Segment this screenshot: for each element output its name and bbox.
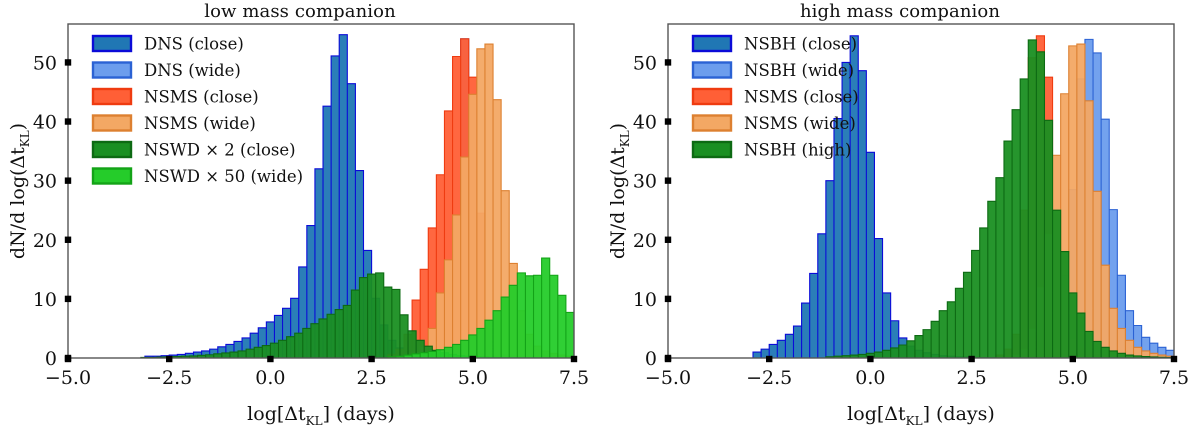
legend-label: NSBH (high) [744, 141, 851, 160]
legend-label: NSMS (wide) [144, 114, 256, 133]
x-tick-label: 7.5 [1159, 367, 1189, 389]
y-tick [65, 237, 71, 243]
x-tick [1171, 356, 1177, 362]
x-tick-label: −5.0 [645, 367, 691, 389]
y-tick [65, 296, 71, 302]
legend-label: DNS (wide) [144, 61, 241, 80]
legend-swatch [93, 63, 131, 78]
legend-label: NSMS (close) [144, 88, 259, 107]
x-tick-label: 2.5 [356, 367, 386, 389]
legend-item[interactable]: NSBH (close) [693, 35, 857, 54]
y-axis-label: dN/d log(ΔtKL) [607, 123, 632, 259]
plot-left: −5.0−2.50.02.55.07.501020304050log[ΔtKL]… [0, 0, 600, 427]
y-tick [65, 118, 71, 124]
legend-swatch [93, 169, 131, 184]
x-tick [368, 356, 374, 362]
legend-item[interactable]: NSMS (wide) [693, 114, 856, 133]
legend-swatch [93, 142, 131, 157]
y-tick [665, 59, 671, 65]
x-tick [1070, 356, 1076, 362]
histogram-layer [753, 36, 1200, 358]
legend-item[interactable]: NSWD × 2 (close) [93, 141, 296, 160]
x-axis-label: log[ΔtKL] (days) [247, 403, 395, 427]
legend-label: NSMS (wide) [744, 114, 856, 133]
x-tick [968, 356, 974, 362]
x-tick [267, 356, 273, 362]
legend-label: NSMS (close) [744, 88, 859, 107]
x-tick-label: 0.0 [255, 367, 285, 389]
legend-swatch [693, 116, 731, 131]
y-tick [665, 237, 671, 243]
legend-swatch [93, 89, 131, 104]
y-tick [665, 177, 671, 183]
legend-item[interactable]: DNS (close) [93, 35, 244, 54]
plot-right: −5.0−2.50.02.55.07.501020304050log[ΔtKL]… [600, 0, 1200, 427]
y-tick-label: 40 [633, 112, 657, 134]
y-tick [65, 59, 71, 65]
x-tick-label: 7.5 [559, 367, 589, 389]
histogram-layer [141, 35, 647, 358]
legend-item[interactable]: NSBH (high) [693, 141, 851, 160]
x-tick-label: 5.0 [458, 367, 488, 389]
x-tick-label: −2.5 [146, 367, 192, 389]
x-tick [766, 356, 772, 362]
legend-swatch [693, 36, 731, 51]
y-tick-label: 30 [633, 171, 657, 193]
y-tick-label: 10 [633, 289, 657, 311]
x-tick-label: −2.5 [746, 367, 792, 389]
x-tick-label: 0.0 [855, 367, 885, 389]
legend-swatch [693, 89, 731, 104]
x-tick-label: 2.5 [956, 367, 986, 389]
legend-item[interactable]: NSMS (close) [693, 88, 859, 107]
y-tick-label: 20 [633, 230, 657, 252]
legend: NSBH (close)NSBH (wide)NSMS (close)NSMS … [693, 35, 859, 160]
y-tick-label: 0 [645, 348, 657, 370]
y-tick [65, 177, 71, 183]
y-tick-label: 40 [33, 112, 57, 134]
y-axis-label: dN/d log(ΔtKL) [7, 123, 32, 259]
y-tick-label: 10 [33, 289, 57, 311]
panel-high-mass-companion: high mass companion −5.0−2.50.02.55.07.5… [600, 0, 1200, 427]
y-tick [65, 355, 71, 361]
x-tick [470, 356, 476, 362]
legend: DNS (close)DNS (wide)NSMS (close)NSMS (w… [93, 35, 303, 187]
y-tick-label: 50 [33, 52, 57, 74]
x-tick-label: −5.0 [45, 367, 91, 389]
y-tick-label: 50 [633, 52, 657, 74]
x-axis-label: log[ΔtKL] (days) [847, 403, 995, 427]
legend-label: DNS (close) [144, 35, 244, 54]
legend-label: NSWD × 50 (wide) [144, 167, 303, 186]
x-tick [571, 356, 577, 362]
legend-item[interactable]: NSWD × 50 (wide) [93, 167, 303, 186]
legend-item[interactable]: DNS (wide) [93, 61, 241, 80]
y-tick-label: 20 [33, 230, 57, 252]
legend-item[interactable]: NSBH (wide) [693, 61, 854, 80]
legend-label: NSBH (wide) [744, 61, 854, 80]
y-tick [665, 296, 671, 302]
y-tick [665, 355, 671, 361]
x-tick [867, 356, 873, 362]
x-tick [166, 356, 172, 362]
legend-label: NSBH (close) [744, 35, 857, 54]
legend-swatch [93, 36, 131, 51]
x-tick-label: 5.0 [1058, 367, 1088, 389]
legend-swatch [93, 116, 131, 131]
panel-low-mass-companion: low mass companion −5.0−2.50.02.55.07.50… [0, 0, 600, 427]
y-tick [665, 118, 671, 124]
legend-item[interactable]: NSMS (close) [93, 88, 259, 107]
legend-swatch [693, 63, 731, 78]
legend-swatch [693, 142, 731, 157]
figure-root: low mass companion −5.0−2.50.02.55.07.50… [0, 0, 1200, 427]
legend-item[interactable]: NSMS (wide) [93, 114, 256, 133]
legend-label: NSWD × 2 (close) [144, 141, 296, 160]
y-tick-label: 30 [33, 171, 57, 193]
y-tick-label: 0 [45, 348, 57, 370]
